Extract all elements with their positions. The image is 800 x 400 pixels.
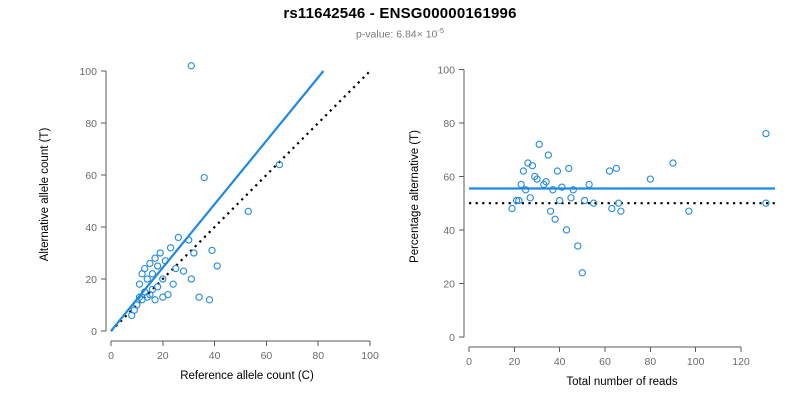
data-point [579, 270, 585, 276]
data-point [209, 247, 215, 253]
data-point [520, 168, 526, 174]
data-point [142, 266, 148, 272]
data-point [167, 245, 173, 251]
data-point [618, 208, 624, 214]
data-point [563, 227, 569, 233]
y-axis-tick-label: 60 [443, 171, 455, 183]
x-axis-tick-label: 80 [644, 356, 656, 368]
data-point [188, 276, 194, 282]
y-axis-tick-label: 100 [79, 66, 97, 78]
data-point [157, 250, 163, 256]
data-point [616, 200, 622, 206]
data-point [609, 205, 615, 211]
data-point [582, 197, 588, 203]
data-point [552, 216, 558, 222]
data-point [557, 197, 563, 203]
x-axis-tick-label: 60 [599, 356, 611, 368]
data-point [670, 160, 676, 166]
data-point [214, 263, 220, 269]
x-axis-tick-label: 40 [209, 350, 221, 362]
data-point [613, 165, 619, 171]
x-axis-tick-label: 60 [261, 350, 273, 362]
left-scatter-panel: 020406080100Alternative allele count (T)… [0, 0, 400, 400]
data-point [647, 176, 653, 182]
data-point [152, 297, 158, 303]
data-point [170, 281, 176, 287]
data-point [196, 294, 202, 300]
x-axis-tick-label: 120 [732, 356, 750, 368]
data-point [136, 281, 142, 287]
y-axis-title: Alternative allele count (T) [39, 128, 51, 262]
y-axis-tick-label: 20 [85, 274, 97, 286]
x-axis-tick-label: 80 [312, 350, 324, 362]
data-point [206, 297, 212, 303]
data-point [149, 271, 155, 277]
data-point [152, 255, 158, 261]
figure-container: rs11642546 - ENSG00000161996 p-value: 6.… [0, 0, 800, 400]
y-axis-tick-label: 40 [85, 222, 97, 234]
data-point [586, 181, 592, 187]
x-axis-title: Reference allele count (C) [180, 370, 314, 382]
data-point [606, 168, 612, 174]
right-scatter-panel: 020406080100Percentage alternative (T)02… [400, 0, 800, 400]
data-point [536, 141, 542, 147]
y-axis-tick-label: 100 [437, 64, 455, 76]
data-point [165, 292, 171, 298]
data-point [175, 234, 181, 240]
data-point [188, 63, 194, 69]
right-plot-svg: 020406080100Percentage alternative (T)02… [400, 0, 800, 400]
y-axis-tick-label: 80 [85, 118, 97, 130]
data-point [518, 181, 524, 187]
data-point [686, 208, 692, 214]
y-axis-tick-label: 40 [443, 225, 455, 237]
left-plot-svg: 020406080100Alternative allele count (T)… [0, 0, 400, 400]
y-axis-tick-label: 0 [91, 326, 97, 338]
x-axis-tick-label: 100 [361, 350, 379, 362]
data-point [527, 195, 533, 201]
data-point [155, 284, 161, 290]
data-point [763, 131, 769, 137]
data-point [545, 152, 551, 158]
y-axis-title: Percentage alternative (T) [409, 130, 421, 263]
y-axis-tick-label: 20 [443, 278, 455, 290]
x-axis-title: Total number of reads [566, 376, 677, 388]
data-point [509, 205, 515, 211]
data-point [548, 208, 554, 214]
y-axis-tick-label: 80 [443, 118, 455, 130]
fit-line [111, 71, 323, 331]
data-point [134, 302, 140, 308]
data-point [568, 195, 574, 201]
x-axis-tick-label: 0 [466, 356, 472, 368]
data-point [155, 263, 161, 269]
data-point [566, 165, 572, 171]
data-point [201, 175, 207, 181]
data-point [173, 266, 179, 272]
data-point [245, 208, 251, 214]
y-axis-tick-label: 0 [449, 332, 455, 344]
data-point [575, 243, 581, 249]
data-point [180, 268, 186, 274]
y-axis-tick-label: 60 [85, 170, 97, 182]
x-axis-tick-label: 40 [554, 356, 566, 368]
data-point [144, 276, 150, 282]
data-point [554, 168, 560, 174]
x-axis-tick-label: 20 [157, 350, 169, 362]
x-axis-tick-label: 20 [508, 356, 520, 368]
x-axis-tick-label: 0 [108, 350, 114, 362]
data-point [147, 260, 153, 266]
data-point [191, 250, 197, 256]
x-axis-tick-label: 100 [687, 356, 705, 368]
